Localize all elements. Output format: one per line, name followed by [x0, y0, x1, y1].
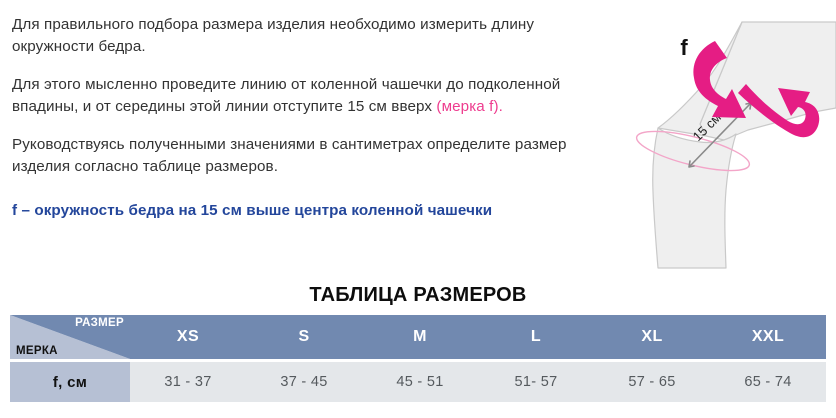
size-header-xxl: XXL: [710, 315, 826, 359]
size-header-xl: XL: [594, 315, 710, 359]
value-xl: 57 - 65: [594, 362, 710, 402]
corner-header-cell: РАЗМЕР МЕРКА: [10, 315, 130, 359]
value-xxl: 65 - 74: [710, 362, 826, 402]
table-header-row: РАЗМЕР МЕРКА XS S M L XL XXL: [10, 315, 826, 359]
instructions-block: Для правильного подбора размера изделия …: [12, 14, 572, 222]
instruction-paragraph-1: Для правильного подбора размера изделия …: [12, 14, 572, 58]
f-definition-line: f – окружность бедра на 15 см выше центр…: [12, 200, 572, 222]
corner-size-label: РАЗМЕР: [75, 317, 124, 329]
size-header-s: S: [246, 315, 362, 359]
leg-measurement-illustration: 15 см f: [628, 0, 836, 272]
measure-f-note: (мерка f).: [436, 98, 503, 115]
size-table: РАЗМЕР МЕРКА XS S M L XL XXL f, см 31 - …: [10, 315, 826, 402]
value-m: 45 - 51: [362, 362, 478, 402]
size-header-l: L: [478, 315, 594, 359]
f-label: f: [680, 35, 688, 60]
page-title: ТАБЛИЦА РАЗМЕРОВ: [0, 284, 836, 307]
row-label-f-cm: f, см: [10, 362, 130, 402]
instruction-paragraph-2: Для этого мысленно проведите линию от ко…: [12, 74, 572, 118]
corner-measure-label: МЕРКА: [16, 345, 58, 357]
value-l: 51- 57: [478, 362, 594, 402]
value-s: 37 - 45: [246, 362, 362, 402]
size-header-m: M: [362, 315, 478, 359]
value-xs: 31 - 37: [130, 362, 246, 402]
size-header-xs: XS: [130, 315, 246, 359]
table-row: f, см 31 - 37 37 - 45 45 - 51 51- 57 57 …: [10, 362, 826, 402]
instruction-paragraph-3: Руководствуясь полученными значениями в …: [12, 134, 572, 178]
